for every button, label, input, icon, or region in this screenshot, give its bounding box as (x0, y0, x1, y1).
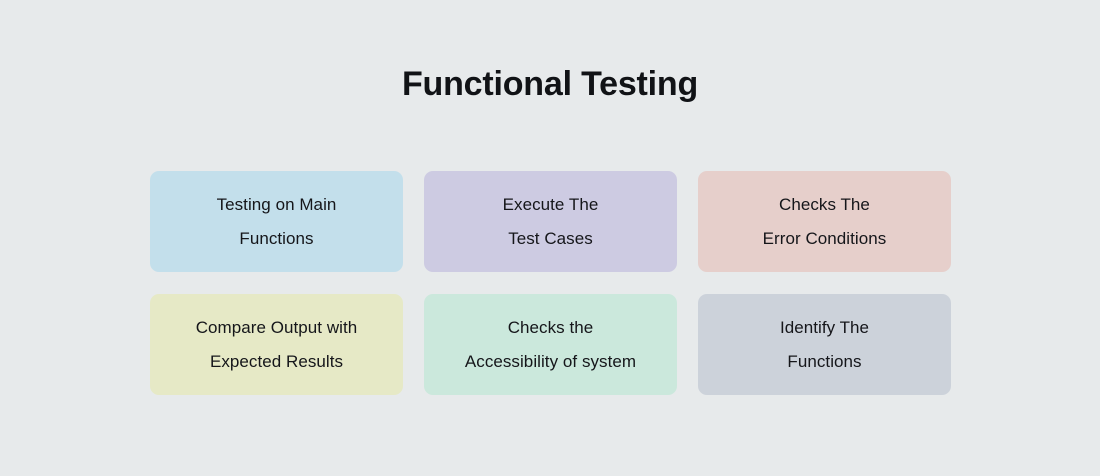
card-grid: Testing on Main Functions Execute The Te… (150, 171, 951, 395)
card-checks-the-accessibility-of-system[interactable]: Checks the Accessibility of system (424, 294, 677, 395)
card-execute-the-test-cases[interactable]: Execute The Test Cases (424, 171, 677, 272)
card-label: Testing on Main Functions (217, 188, 337, 255)
card-label: Checks The Error Conditions (763, 188, 887, 255)
card-testing-on-main-functions[interactable]: Testing on Main Functions (150, 171, 403, 272)
functional-testing-diagram: Functional Testing Testing on Main Funct… (0, 0, 1100, 476)
page-title: Functional Testing (0, 64, 1100, 105)
card-label: Checks the Accessibility of system (465, 311, 636, 378)
card-identify-the-functions[interactable]: Identify The Functions (698, 294, 951, 395)
card-label: Execute The Test Cases (503, 188, 599, 255)
card-checks-the-error-conditions[interactable]: Checks The Error Conditions (698, 171, 951, 272)
card-label: Identify The Functions (780, 311, 869, 378)
card-label: Compare Output with Expected Results (196, 311, 358, 378)
card-compare-output-with-expected-results[interactable]: Compare Output with Expected Results (150, 294, 403, 395)
